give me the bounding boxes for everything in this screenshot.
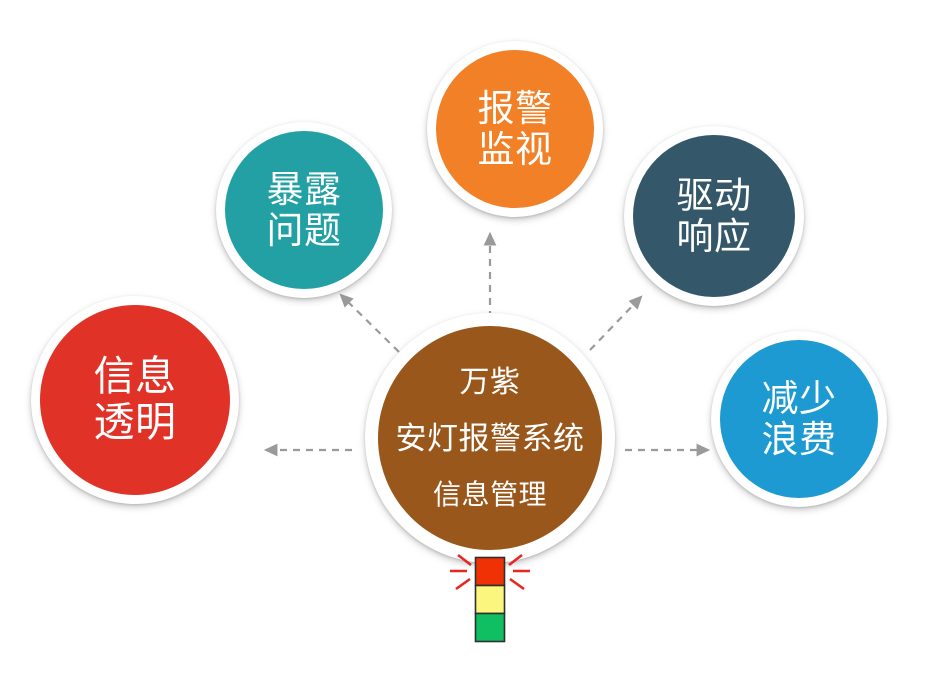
node-drive-response-label-line-1: 驱动 xyxy=(677,175,752,216)
node-reduce-waste-label-line-2: 浪费 xyxy=(762,419,837,460)
node-alarm-monitoring-disc: 报警 监视 xyxy=(436,50,594,208)
node-drive-response-disc: 驱动 响应 xyxy=(633,135,795,297)
andon-lamp-green xyxy=(476,614,505,642)
node-information-transparency-disc: 信息 透明 xyxy=(40,305,230,495)
node-information-transparency[interactable]: 信息 透明 xyxy=(31,296,239,504)
connector-hub-to-drive-response xyxy=(590,297,641,350)
andon-light-tower-icon xyxy=(444,549,536,645)
andon-lamp-red xyxy=(476,558,505,586)
node-expose-problems-label-line-2: 问题 xyxy=(267,210,342,251)
node-expose-problems-label-line-1: 暴露 xyxy=(267,169,342,210)
node-information-transparency-label-line-2: 透明 xyxy=(94,400,177,446)
hub-disc: 万紫 安灯报警系统 信息管理 xyxy=(378,326,602,550)
hub-label-line-2: 安灯报警系统 xyxy=(396,422,585,457)
node-information-transparency-label-line-1: 信息 xyxy=(94,354,177,400)
node-drive-response[interactable]: 驱动 响应 xyxy=(624,126,804,306)
node-alarm-monitoring-label-line-2: 监视 xyxy=(478,129,553,170)
hub-andon-alarm-system[interactable]: 万紫 安灯报警系统 信息管理 xyxy=(365,313,615,563)
node-reduce-waste-disc: 减少 浪费 xyxy=(720,340,878,498)
node-drive-response-label-line-2: 响应 xyxy=(677,216,752,257)
node-alarm-monitoring[interactable]: 报警 监视 xyxy=(427,41,603,217)
hub-label-line-1: 万紫 xyxy=(460,366,521,400)
node-reduce-waste-label-line-1: 减少 xyxy=(762,378,837,419)
hub-label-line-3: 信息管理 xyxy=(433,479,547,510)
node-expose-problems[interactable]: 暴露 问题 xyxy=(216,122,392,298)
node-expose-problems-disc: 暴露 问题 xyxy=(225,131,383,289)
connector-hub-to-expose-problems xyxy=(341,295,399,352)
node-alarm-monitoring-label-line-1: 报警 xyxy=(478,88,553,129)
node-reduce-waste[interactable]: 减少 浪费 xyxy=(711,331,887,507)
andon-flash-rays-right xyxy=(509,555,530,589)
diagram-canvas: 报警 监视 暴露 问题 驱动 响应 信息 透明 减少 浪费 万紫 安 xyxy=(0,0,939,680)
andon-flash-rays-left xyxy=(450,555,471,589)
andon-lamp-yellow xyxy=(476,586,505,614)
